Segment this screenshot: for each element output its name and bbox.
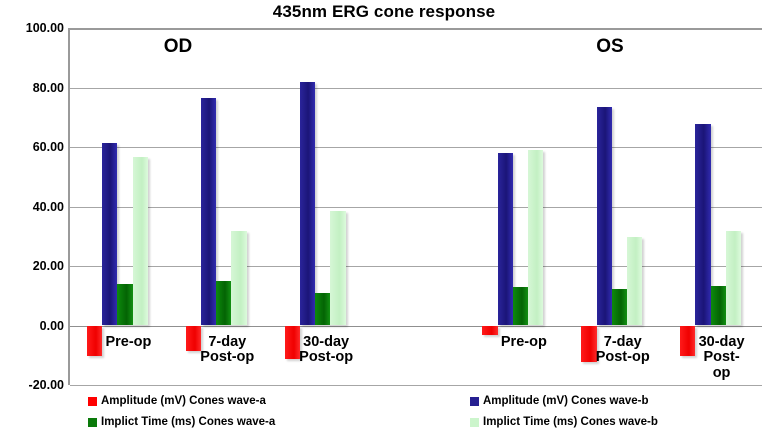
bar bbox=[133, 157, 148, 326]
bar bbox=[300, 82, 315, 326]
bar bbox=[513, 287, 528, 326]
y-tick-label: 100.00 bbox=[2, 21, 64, 35]
legend-swatch-icon bbox=[470, 397, 479, 406]
bar bbox=[315, 293, 330, 326]
plot-area bbox=[68, 28, 760, 385]
erg-cone-response-chart: 435nm ERG cone response 100.0080.0060.00… bbox=[0, 0, 768, 435]
chart-title: 435nm ERG cone response bbox=[0, 2, 768, 22]
bar bbox=[285, 326, 300, 360]
bar bbox=[581, 326, 596, 363]
category-label: Pre-op bbox=[105, 335, 151, 351]
category-label: 7-day Post-op bbox=[596, 335, 650, 366]
gridline-20 bbox=[70, 266, 762, 267]
gridline-40 bbox=[70, 207, 762, 208]
y-tick-label: 80.00 bbox=[2, 81, 64, 95]
bar bbox=[695, 124, 710, 325]
bar bbox=[726, 231, 741, 326]
bar bbox=[627, 237, 642, 326]
category-label: 30-day Post-op bbox=[698, 335, 744, 382]
gridline--20 bbox=[70, 385, 762, 386]
gridline-100 bbox=[70, 28, 762, 30]
legend-swatch-icon bbox=[470, 418, 479, 427]
legend-label: Implict Time (ms) Cones wave-b bbox=[483, 416, 658, 428]
category-label: 30-day Post-op bbox=[299, 335, 353, 366]
legend-swatch-icon bbox=[88, 418, 97, 427]
bar bbox=[102, 143, 117, 326]
bar bbox=[330, 211, 345, 326]
category-label: Pre-op bbox=[501, 335, 547, 351]
bar bbox=[482, 326, 497, 336]
bar bbox=[498, 153, 513, 325]
y-tick-label: -20.00 bbox=[2, 378, 64, 392]
bar bbox=[186, 326, 201, 352]
bar bbox=[87, 326, 102, 356]
bar bbox=[711, 286, 726, 326]
chart-legend: Amplitude (mV) Cones wave-aAmplitude (mV… bbox=[0, 392, 768, 435]
eye-group-label-od: OD bbox=[164, 36, 193, 58]
gridline-60 bbox=[70, 147, 762, 148]
category-label: 7-day Post-op bbox=[200, 335, 254, 366]
legend-label: Amplitude (mV) Cones wave-b bbox=[483, 395, 649, 407]
bar bbox=[528, 150, 543, 326]
y-tick-label: 40.00 bbox=[2, 200, 64, 214]
bar bbox=[231, 231, 246, 326]
y-tick-label: 0.00 bbox=[2, 319, 64, 333]
bar bbox=[597, 107, 612, 326]
bar bbox=[216, 281, 231, 325]
bar bbox=[612, 289, 627, 325]
gridline-80 bbox=[70, 88, 762, 89]
bar bbox=[201, 98, 216, 326]
legend-item[interactable]: Amplitude (mV) Cones wave-a bbox=[88, 395, 266, 407]
legend-item[interactable]: Implict Time (ms) Cones wave-a bbox=[88, 416, 275, 428]
legend-label: Amplitude (mV) Cones wave-a bbox=[101, 395, 266, 407]
legend-item[interactable]: Amplitude (mV) Cones wave-b bbox=[470, 395, 649, 407]
eye-group-label-os: OS bbox=[596, 36, 623, 58]
bar bbox=[680, 326, 695, 356]
y-tick-label: 20.00 bbox=[2, 259, 64, 273]
legend-item[interactable]: Implict Time (ms) Cones wave-b bbox=[470, 416, 658, 428]
y-tick-label: 60.00 bbox=[2, 140, 64, 154]
bar bbox=[117, 284, 132, 326]
legend-label: Implict Time (ms) Cones wave-a bbox=[101, 416, 275, 428]
gridline-0 bbox=[70, 326, 762, 327]
y-axis-tick-labels: 100.0080.0060.0040.0020.000.00-20.00 bbox=[0, 28, 64, 385]
legend-swatch-icon bbox=[88, 397, 97, 406]
